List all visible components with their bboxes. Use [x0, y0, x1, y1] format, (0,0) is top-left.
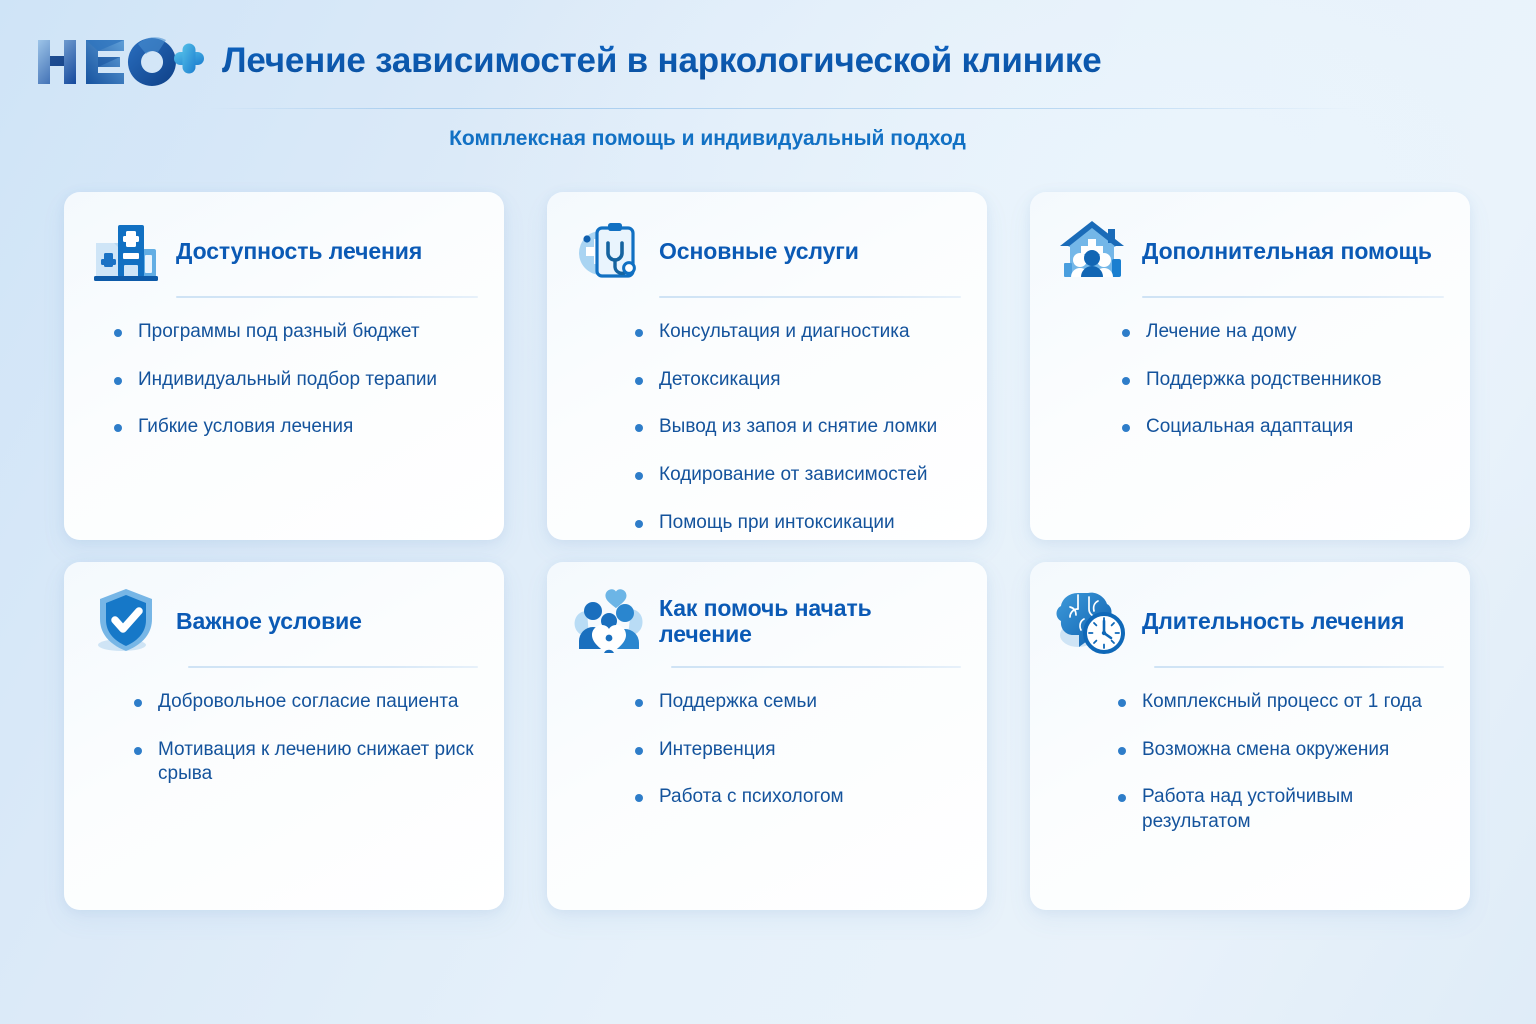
- list-item: Консультация и диагностика: [633, 320, 961, 345]
- list-item: Работа с психологом: [633, 785, 961, 810]
- card-divider: [671, 666, 961, 668]
- card-divider: [188, 666, 478, 668]
- card-title: Длительность лечения: [1142, 608, 1404, 634]
- card-list: Комплексный процесс от 1 года Возможна с…: [1116, 690, 1444, 835]
- page-subtitle: Комплексная помощь и индивидуальный подх…: [0, 127, 1415, 151]
- card-title: Важное условие: [176, 608, 362, 634]
- list-item: Поддержка родственников: [1120, 368, 1444, 393]
- neo-plus-logo-icon: [34, 32, 206, 90]
- header-row: Лечение зависимостей в наркологической к…: [34, 32, 1102, 90]
- hospital-building-icon: [90, 215, 162, 287]
- house-family-cross-icon: [1056, 215, 1128, 287]
- card-divider: [1154, 666, 1444, 668]
- list-item: Комплексный процесс от 1 года: [1116, 690, 1444, 715]
- card-title: Доступность лечения: [176, 238, 422, 264]
- list-item: Индивидуальный подбор терапии: [112, 368, 478, 393]
- list-item: Добровольное согласие пациента: [132, 690, 478, 715]
- card-list: Поддержка семьи Интервенция Работа с пси…: [633, 690, 961, 810]
- list-item: Вывод из запоя и снятие ломки: [633, 415, 961, 440]
- card-availability[interactable]: Доступность лечения Программы под разный…: [64, 192, 504, 540]
- card-how-to-start[interactable]: Как помочь начать лечение Поддержка семь…: [547, 562, 987, 910]
- card-title: Дополнительная помощь: [1142, 238, 1432, 264]
- family-heart-icon: [573, 585, 645, 657]
- card-divider: [659, 296, 961, 298]
- shield-check-icon: [90, 585, 162, 657]
- list-item: Детоксикация: [633, 368, 961, 393]
- card-title: Как помочь начать лечение: [659, 595, 961, 648]
- card-important-condition[interactable]: Важное условие Добровольное согласие пац…: [64, 562, 504, 910]
- card-list: Добровольное согласие пациента Мотивация…: [132, 690, 478, 787]
- card-header: Доступность лечения: [90, 214, 478, 288]
- clipboard-stethoscope-icon: [573, 215, 645, 287]
- card-services[interactable]: Основные услуги Консультация и диагности…: [547, 192, 987, 540]
- card-grid: Доступность лечения Программы под разный…: [64, 192, 1472, 910]
- page-header: Лечение зависимостей в наркологической к…: [0, 0, 1536, 172]
- card-duration[interactable]: Длительность лечения Комплексный процесс…: [1030, 562, 1470, 910]
- header-divider: [210, 108, 1360, 109]
- card-header: Как помочь начать лечение: [573, 584, 961, 658]
- list-item: Программы под разный бюджет: [112, 320, 478, 345]
- brain-clock-icon: [1056, 585, 1128, 657]
- card-list: Консультация и диагностика Детоксикация …: [633, 320, 961, 535]
- card-header: Основные услуги: [573, 214, 961, 288]
- list-item: Кодирование от зависимостей: [633, 463, 961, 488]
- list-item: Интервенция: [633, 738, 961, 763]
- card-header: Важное условие: [90, 584, 478, 658]
- list-item: Возможна смена окружения: [1116, 738, 1444, 763]
- card-divider: [176, 296, 478, 298]
- list-item: Мотивация к лечению снижает риск срыва: [132, 738, 478, 787]
- card-list: Программы под разный бюджет Индивидуальн…: [112, 320, 478, 440]
- list-item: Лечение на дому: [1120, 320, 1444, 345]
- card-title: Основные услуги: [659, 238, 859, 264]
- list-item: Помощь при интоксикации: [633, 511, 961, 536]
- card-list: Лечение на дому Поддержка родственников …: [1120, 320, 1444, 440]
- list-item: Социальная адаптация: [1120, 415, 1444, 440]
- card-header: Дополнительная помощь: [1056, 214, 1444, 288]
- list-item: Поддержка семьи: [633, 690, 961, 715]
- card-divider: [1142, 296, 1444, 298]
- card-header: Длительность лечения: [1056, 584, 1444, 658]
- list-item: Гибкие условия лечения: [112, 415, 478, 440]
- list-item: Работа над устойчивым результатом: [1116, 785, 1444, 834]
- card-extra-help[interactable]: Дополнительная помощь Лечение на дому По…: [1030, 192, 1470, 540]
- page-title: Лечение зависимостей в наркологической к…: [222, 41, 1102, 81]
